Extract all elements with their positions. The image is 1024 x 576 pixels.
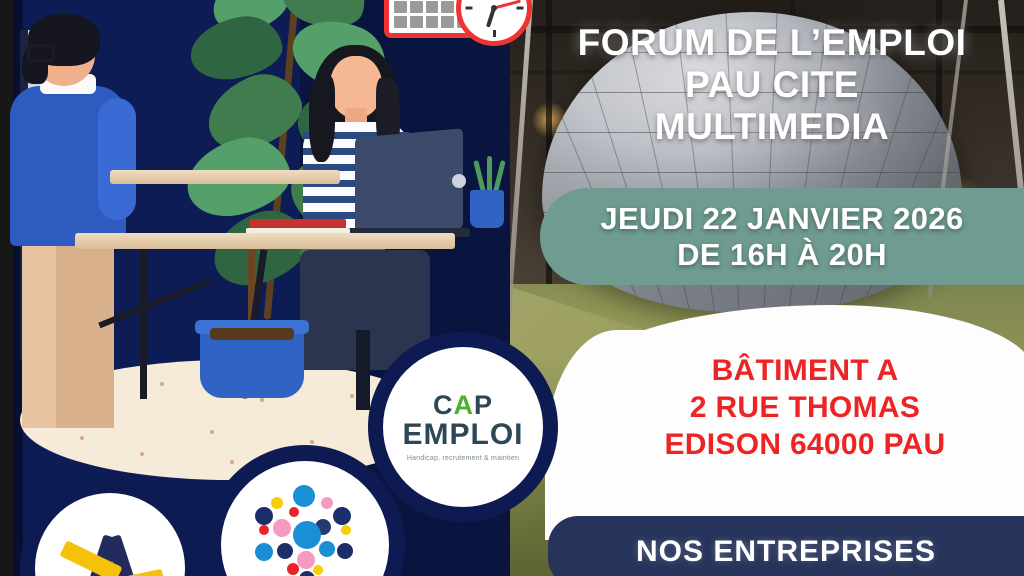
- pot-soil: [210, 328, 294, 340]
- clock-center-pin: [491, 5, 497, 11]
- apec-a-mark: [62, 531, 158, 576]
- plant-pot: [200, 320, 304, 398]
- event-poster: FORUM DE L’EMPLOI PAU CITE MULTIMEDIA JE…: [0, 0, 1024, 576]
- seated-hair-left: [309, 76, 335, 162]
- title-line-2: PAU CITE: [520, 64, 1024, 106]
- desk-leg: [140, 249, 147, 399]
- date-time-icon-group: [384, 0, 534, 56]
- desk-surface: [75, 233, 455, 249]
- address-line-3: EDISON 64000 PAU: [585, 426, 1024, 463]
- address-line-1: BÂTIMENT A: [585, 352, 1024, 389]
- date-line-1: JEUDI 22 JANVIER 2026: [600, 201, 963, 237]
- person-arm: [98, 98, 136, 220]
- cap-emploi-line-2: EMPLOI: [402, 419, 523, 451]
- title-line-1: FORUM DE L’EMPLOI: [520, 22, 1024, 64]
- left-edge-strip: [0, 0, 13, 576]
- date-line-2: DE 16H À 20H: [677, 237, 887, 273]
- cap-emploi-logo: CAP EMPLOI Handicap, recrutement & maint…: [383, 347, 543, 507]
- person-glasses: [27, 44, 55, 62]
- cap-emploi-line-1: CAP: [433, 392, 493, 419]
- laptop-logo: [452, 174, 466, 188]
- desk-shelf: [110, 170, 340, 184]
- person-leg-front: [22, 238, 56, 428]
- address-line-2: 2 RUE THOMAS: [585, 389, 1024, 426]
- event-date-banner: JEUDI 22 JANVIER 2026 DE 16H À 20H: [540, 188, 1024, 285]
- chair-leg: [356, 330, 370, 410]
- france-travail-dot-mark: [253, 485, 357, 576]
- companies-banner-label: NOS ENTREPRISES: [636, 535, 936, 569]
- laptop-screen: [355, 128, 463, 237]
- poster-title: FORUM DE L’EMPLOI PAU CITE MULTIMEDIA: [520, 22, 1024, 149]
- desk-plant-pot: [470, 190, 504, 228]
- venue-address: BÂTIMENT A 2 RUE THOMAS EDISON 64000 PAU: [585, 352, 1024, 464]
- cap-emploi-tagline: Handicap, recrutement & maintien: [407, 455, 519, 462]
- title-line-3: MULTIMEDIA: [520, 106, 1024, 148]
- companies-banner[interactable]: NOS ENTREPRISES: [548, 516, 1024, 576]
